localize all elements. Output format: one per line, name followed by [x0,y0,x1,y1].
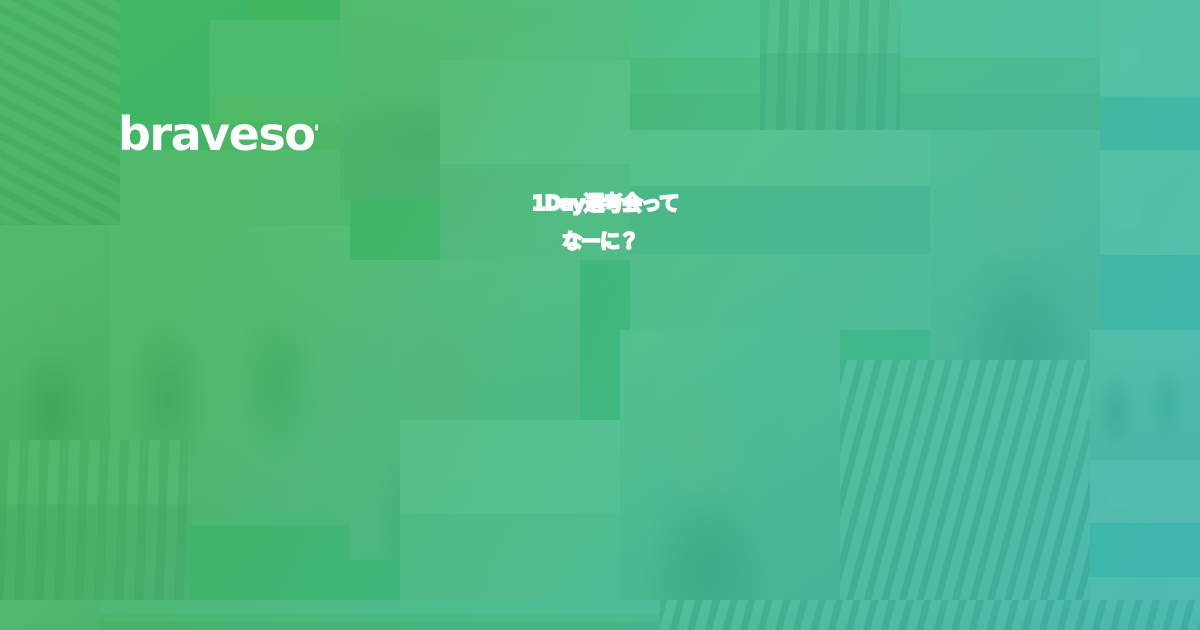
bravesoft-logo-text: bravesoft [118,110,318,161]
page-title: 1Day選考会って なーに？ [0,193,1200,251]
headline-line-2: なーに？ [0,231,1200,251]
headline-line-1: 1Day選考会って [0,193,1200,213]
ogp-banner: bravesoft 1Day選考会って なーに？ [0,0,1200,630]
banner-content: bravesoft 1Day選考会って なーに？ [0,0,1200,630]
bravesoft-logo: bravesoft [118,110,318,162]
